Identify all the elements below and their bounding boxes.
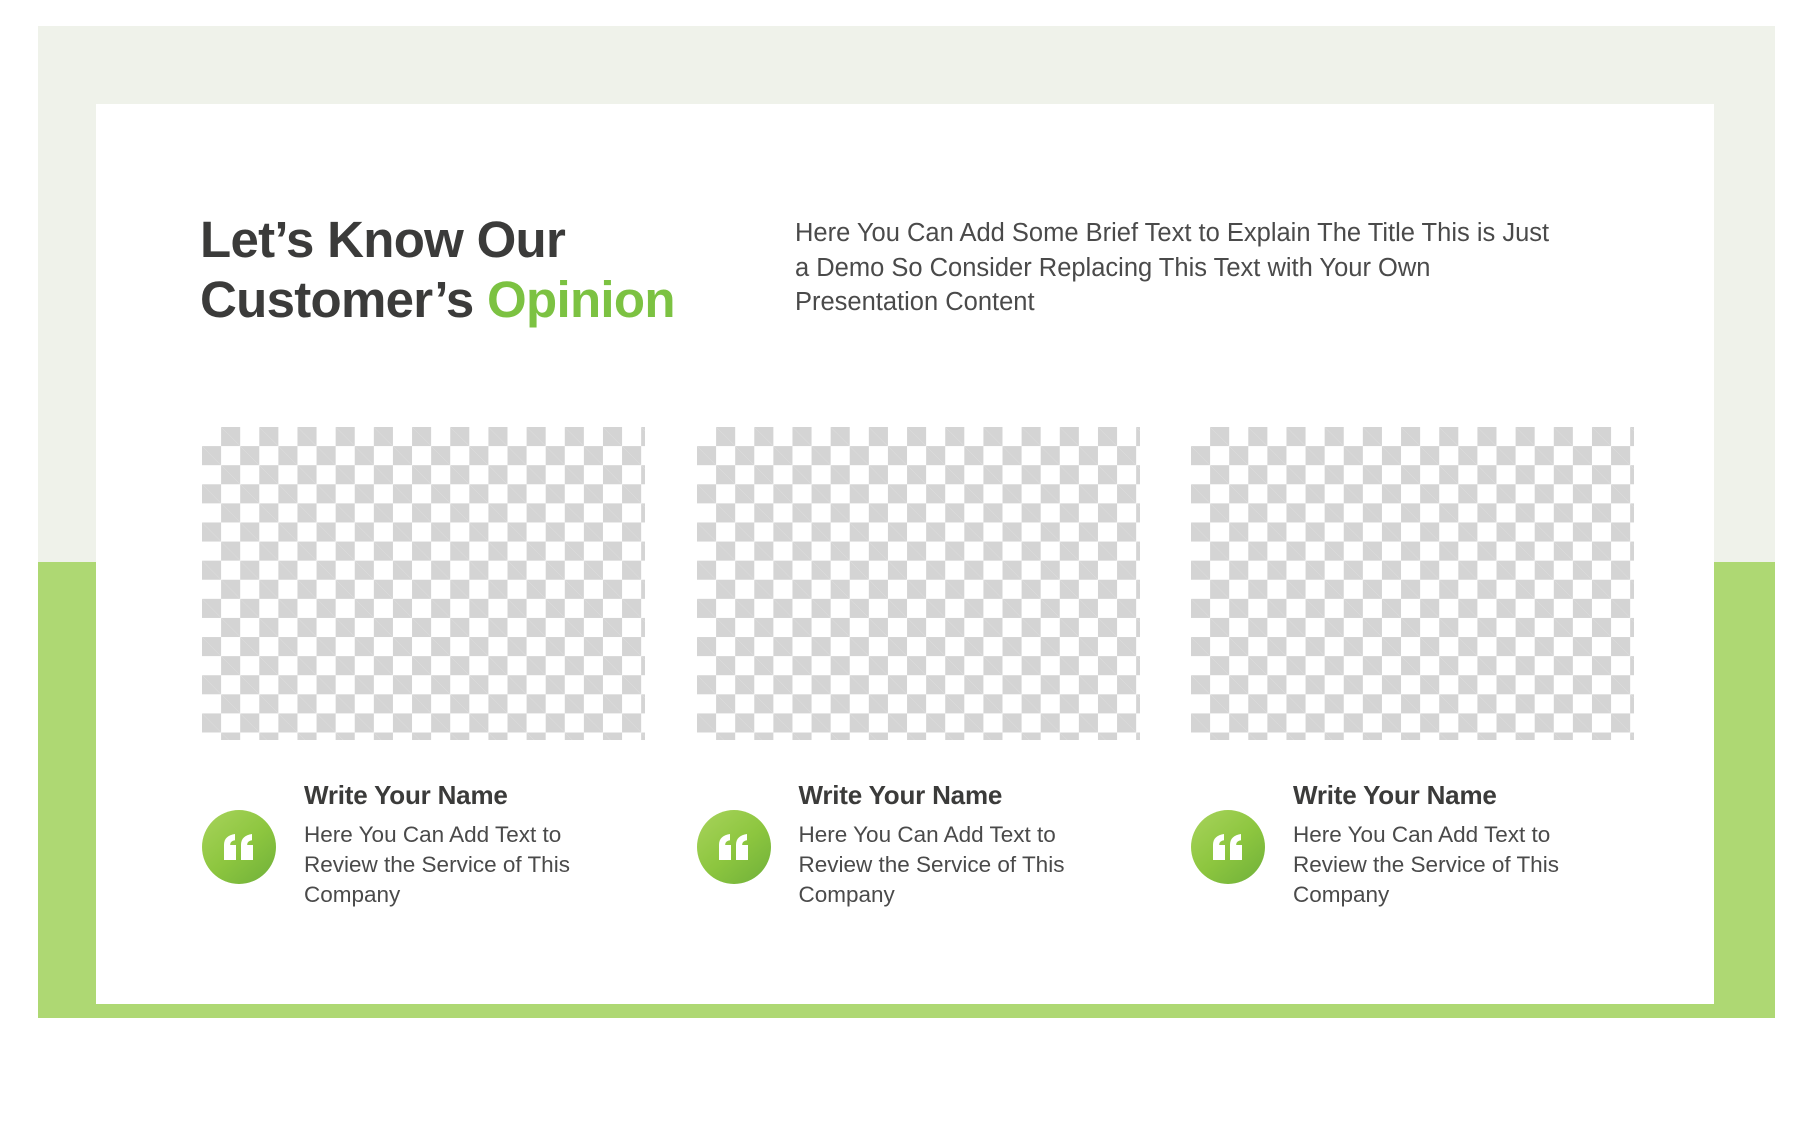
testimonial-body: Here You Can Add Text to Review the Serv… xyxy=(1293,820,1608,910)
testimonial-card-1: Write Your Name Here You Can Add Text to… xyxy=(202,780,645,910)
testimonial-card-2: Write Your Name Here You Can Add Text to… xyxy=(697,780,1140,910)
quote-icon xyxy=(697,810,771,884)
intro-paragraph: Here You Can Add Some Brief Text to Expl… xyxy=(795,216,1555,320)
title-line-1: Let’s Know Our xyxy=(200,211,565,268)
image-placeholder-2[interactable] xyxy=(697,427,1140,740)
title-column: Let’s Know Our Customer’s Opinion xyxy=(200,210,795,330)
testimonial-name: Write Your Name xyxy=(1293,780,1608,811)
testimonial-text-2: Write Your Name Here You Can Add Text to… xyxy=(771,780,1114,910)
title-line-2-accent: Opinion xyxy=(487,271,675,328)
title-line-2-plain: Customer’s xyxy=(200,271,487,328)
testimonial-body: Here You Can Add Text to Review the Serv… xyxy=(799,820,1114,910)
testimonial-card-3: Write Your Name Here You Can Add Text to… xyxy=(1191,780,1634,910)
thumbnail-row xyxy=(202,427,1634,740)
testimonial-name: Write Your Name xyxy=(799,780,1114,811)
slide-canvas: Let’s Know Our Customer’s Opinion Here Y… xyxy=(0,0,1812,1125)
testimonial-name: Write Your Name xyxy=(304,780,619,811)
page-title: Let’s Know Our Customer’s Opinion xyxy=(200,210,795,330)
intro-column: Here You Can Add Some Brief Text to Expl… xyxy=(795,210,1555,320)
quote-icon xyxy=(1191,810,1265,884)
testimonial-text-1: Write Your Name Here You Can Add Text to… xyxy=(276,780,619,910)
testimonial-body: Here You Can Add Text to Review the Serv… xyxy=(304,820,619,910)
quote-icon xyxy=(202,810,276,884)
image-placeholder-3[interactable] xyxy=(1191,427,1634,740)
image-placeholder-1[interactable] xyxy=(202,427,645,740)
testimonial-row: Write Your Name Here You Can Add Text to… xyxy=(202,780,1634,910)
slide-header: Let’s Know Our Customer’s Opinion Here Y… xyxy=(200,210,1630,330)
testimonial-text-3: Write Your Name Here You Can Add Text to… xyxy=(1265,780,1608,910)
